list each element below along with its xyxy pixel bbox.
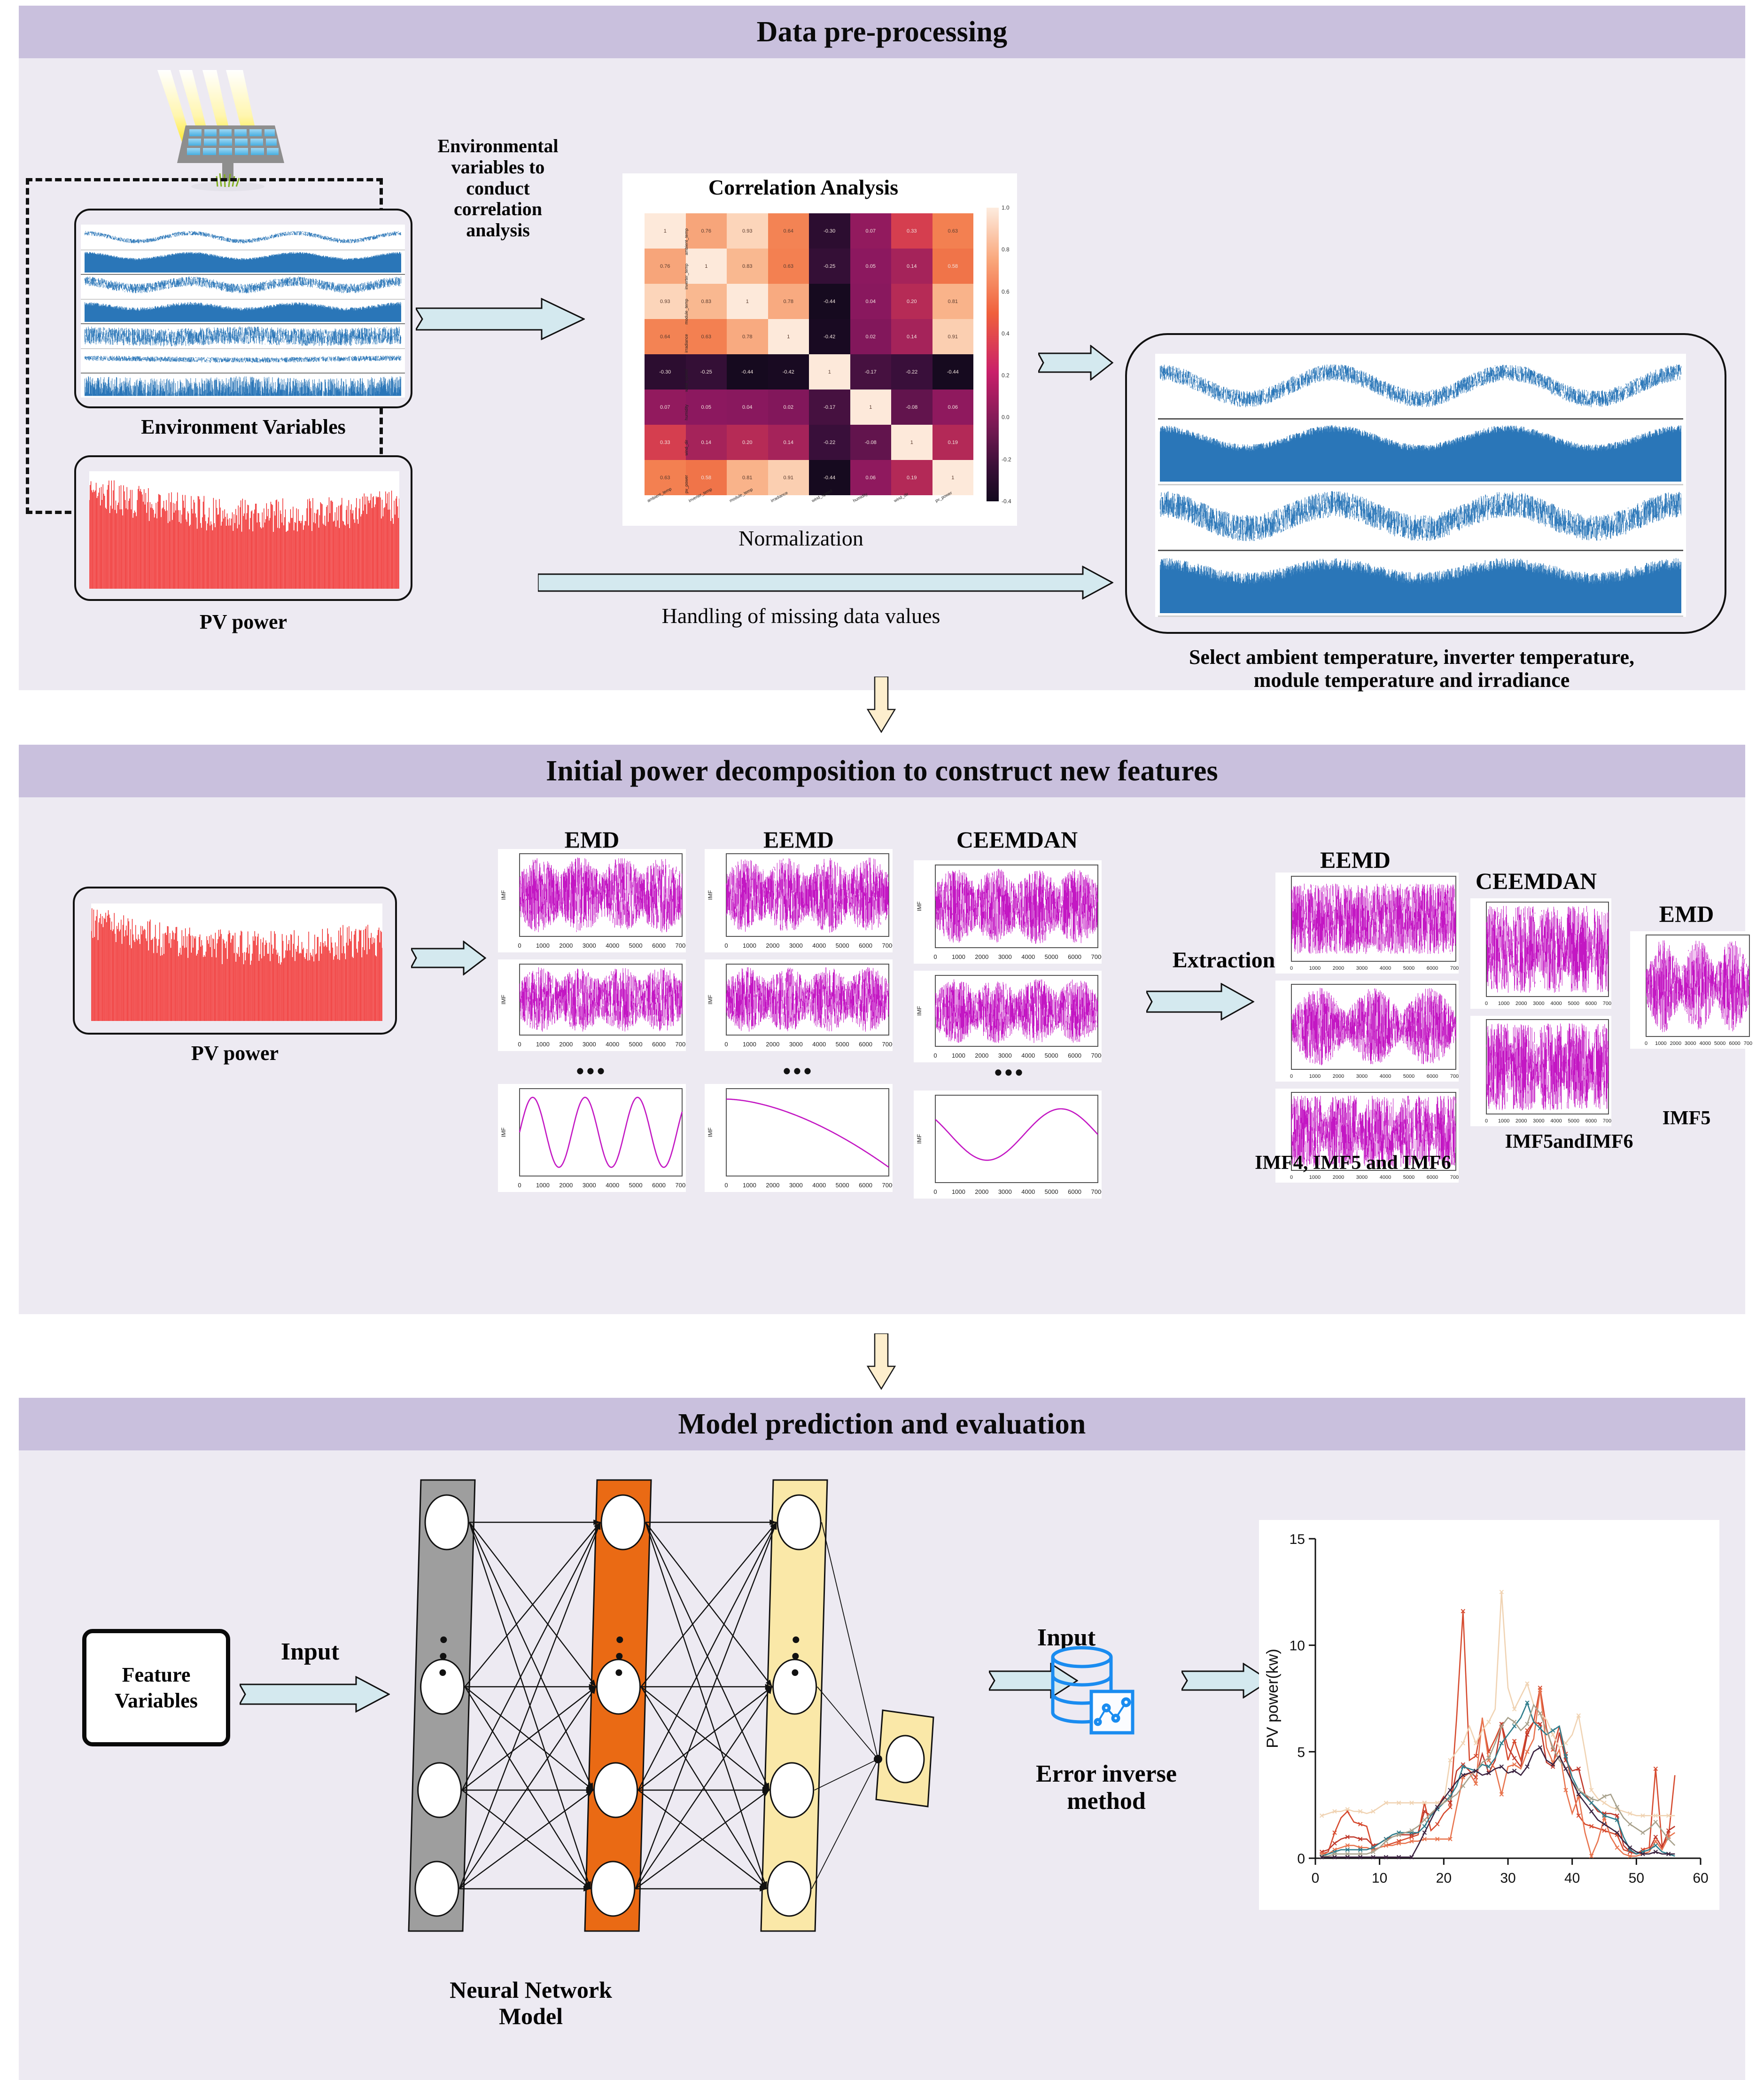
heatmap-cell: 1: [933, 460, 974, 495]
heatmap-cell: -0.30: [645, 354, 686, 390]
heatmap-cell-value: 0.63: [933, 213, 974, 249]
feature-box-line-2: Variables: [115, 1688, 198, 1714]
nn-caption-line-2: Model: [376, 2003, 686, 2029]
nn-node: [418, 1763, 461, 1817]
heatmap-cell: 0.93: [727, 213, 768, 249]
svg-text:2000: 2000: [1515, 1001, 1527, 1006]
svg-text:3000: 3000: [1533, 1001, 1544, 1006]
nn-node: [768, 1862, 811, 1916]
heatmap-cell: 0.78: [727, 319, 768, 354]
heatmap-cell-value: -0.08: [850, 425, 892, 460]
heatmap-cell: 0.19: [891, 460, 933, 495]
svg-text:6000: 6000: [1729, 1041, 1740, 1046]
env-trace-3: [85, 275, 401, 297]
error-inverse-method-caption: Error inverse method: [961, 1761, 1252, 1815]
pv-power-bars: [89, 471, 399, 589]
extracted-imf-plot: 01000200030004000500060007000: [1275, 981, 1459, 1082]
svg-text:4000: 4000: [1380, 966, 1391, 971]
nn-caption-line-1: Neural Network: [376, 1977, 686, 2003]
heatmap-cell-value: 0.14: [891, 249, 933, 284]
heatmap-cell-value: -0.08: [891, 390, 933, 425]
heatmap-cell-value: 1: [686, 249, 727, 284]
heatmap-cell: 0.20: [891, 284, 933, 319]
neural-network-caption: Neural Network Model: [376, 1977, 686, 2029]
heatmap-cell-value: -0.25: [686, 354, 727, 390]
heatmap-cell-value: 0.93: [645, 284, 686, 319]
svg-text:3000: 3000: [1533, 1118, 1544, 1124]
heatmap-cell: -0.44: [809, 284, 850, 319]
heatmap-cell: 1: [686, 249, 727, 284]
heatmap-cell: 1: [891, 425, 933, 460]
svg-text:10: 10: [1290, 1638, 1305, 1654]
heatmap-cell-value: 0.78: [768, 284, 809, 319]
flow-arrow-2: [867, 1333, 896, 1390]
heatmap-cell: -0.30: [809, 213, 850, 249]
heatmap-cell: 0.04: [850, 284, 892, 319]
heatmap-cell-value: 0.07: [645, 390, 686, 425]
heatmap-cell-value: 0.33: [645, 425, 686, 460]
arrow1-line-4: correlation: [416, 199, 580, 220]
correlation-arrow-label: Environmental variables to conduct corre…: [416, 136, 580, 241]
heatmap-cell: 1: [768, 319, 809, 354]
svg-text:2000: 2000: [1333, 1074, 1344, 1079]
database-icon: [1041, 1642, 1142, 1743]
svg-text:15: 15: [1290, 1532, 1305, 1547]
svg-text:7000: 7000: [1450, 966, 1459, 971]
heatmap-cell-value: 0.83: [686, 284, 727, 319]
heatmap-cell: 1: [727, 284, 768, 319]
svg-text:7000: 7000: [1603, 1118, 1611, 1124]
svg-text:1000: 1000: [1498, 1118, 1509, 1124]
heatmap-cell: 0.14: [768, 425, 809, 460]
heatmap-cell-value: 0.20: [891, 284, 933, 319]
environment-variables-traces: [81, 225, 405, 397]
svg-text:5000: 5000: [1568, 1001, 1579, 1006]
svg-text:5000: 5000: [1568, 1118, 1579, 1124]
heatmap-cell: 0.81: [727, 460, 768, 495]
section-1-title: Data pre-processing: [19, 6, 1745, 58]
svg-text:3000: 3000: [1685, 1041, 1696, 1046]
heatmap-cell-value: -0.42: [768, 354, 809, 390]
svg-text:2000: 2000: [1515, 1118, 1527, 1124]
heatmap-cell: 0.91: [768, 460, 809, 495]
heatmap-cell: 0.05: [686, 390, 727, 425]
svg-text:6000: 6000: [1427, 966, 1438, 971]
heatmap-cell: 0.19: [933, 425, 974, 460]
heatmap-cell-value: 0.93: [727, 213, 768, 249]
svg-text:6000: 6000: [1585, 1001, 1597, 1006]
heatmap-cell: 1: [645, 213, 686, 249]
heatmap-cell-value: 0.19: [933, 425, 974, 460]
nn-output-layer: [876, 1710, 933, 1807]
input-label-1: Input: [240, 1638, 381, 1666]
heatmap-cell: 0.14: [891, 319, 933, 354]
selected-variable-trace-4: [1160, 553, 1681, 613]
svg-text:3000: 3000: [1356, 966, 1368, 971]
heatmap-cell-value: -0.44: [727, 354, 768, 390]
heatmap-cell-value: -0.30: [809, 213, 850, 249]
svg-text:0: 0: [1297, 1851, 1305, 1867]
heatmap-cell-value: 0.64: [645, 319, 686, 354]
svg-text:0: 0: [1312, 1870, 1320, 1886]
nn-layer-ellipsis-dot: [616, 1653, 622, 1659]
result-caption-emd: IMF5: [1625, 1107, 1748, 1130]
heatmap-cell-value: 1: [727, 284, 768, 319]
selected-variable-trace-2: [1160, 421, 1681, 482]
heatmap-cell-value: 0.06: [850, 460, 892, 495]
heatmap-cell: 0.76: [686, 213, 727, 249]
svg-text:1000: 1000: [1498, 1001, 1509, 1006]
svg-text:4000: 4000: [1550, 1118, 1562, 1124]
heatmap-cell: 0.93: [645, 284, 686, 319]
heatmap-cell: 0.33: [645, 425, 686, 460]
svg-text:5: 5: [1297, 1745, 1305, 1760]
arrow-input-to-network: [240, 1676, 390, 1713]
svg-text:7000: 7000: [1450, 1074, 1459, 1079]
result-caption-eemd: IMF4, IMF5 and IMF6: [1207, 1152, 1499, 1174]
heatmap-cell-value: 0.20: [727, 425, 768, 460]
heatmap-cell-value: -0.17: [850, 354, 892, 390]
heatmap-cell: 0.58: [933, 249, 974, 284]
neural-network-diagram: [390, 1461, 944, 1957]
arrow-normalization: [538, 566, 1113, 600]
svg-text:4000: 4000: [1380, 1175, 1391, 1180]
nn-layer-ellipsis-dot: [615, 1669, 622, 1676]
chart-y-axis-label: PV power(kw): [1264, 1649, 1282, 1748]
pv-power-box-s1: [74, 455, 412, 601]
svg-text:1000: 1000: [1655, 1041, 1666, 1046]
heatmap-cell-value: 0.06: [933, 390, 974, 425]
nn-layer-ellipsis-dot: [440, 1636, 447, 1643]
error-method-line-2: method: [961, 1788, 1252, 1815]
heatmap-cell-value: -0.30: [645, 354, 686, 390]
heatmap-cell-value: 0.04: [727, 390, 768, 425]
selected-variables-caption: Select ambient temperature, inverter tem…: [1095, 646, 1729, 692]
error-method-line-1: Error inverse: [961, 1761, 1252, 1788]
selected-trace-divider: [1158, 550, 1683, 551]
heatmap-cell: 0.63: [645, 460, 686, 495]
env-trace-5: [85, 324, 401, 347]
heatmap-cell-value: 0.05: [686, 390, 727, 425]
heatmap-cell-value: 0.14: [686, 425, 727, 460]
heatmap-cell-value: 0.83: [727, 249, 768, 284]
nn-node: [421, 1659, 464, 1714]
heatmap-cell: 0.33: [891, 213, 933, 249]
svg-text:0: 0: [1645, 1041, 1647, 1046]
nn-node: [777, 1495, 821, 1550]
arrow1-line-2: variables to: [416, 157, 580, 178]
pv-power-prediction-chart: 0510150102030405060PV power(kw): [1259, 1520, 1719, 1910]
svg-text:4000: 4000: [1550, 1001, 1562, 1006]
heatmap-cell-value: 1: [768, 319, 809, 354]
heatmap-cell: 0.07: [645, 390, 686, 425]
svg-text:0: 0: [1290, 1074, 1293, 1079]
extracted-imf-plot: 01000200030004000500060007000: [1470, 898, 1611, 1009]
nn-node: [773, 1659, 816, 1714]
svg-text:0: 0: [1290, 966, 1293, 971]
pv-power-label-s1: PV power: [74, 610, 412, 633]
heatmap-cell-value: 1: [645, 213, 686, 249]
svg-text:7000: 7000: [1603, 1001, 1611, 1006]
nn-node: [770, 1763, 814, 1817]
svg-text:0: 0: [1485, 1001, 1488, 1006]
selected-trace-divider: [1158, 615, 1683, 617]
arrow1-line-5: analysis: [416, 220, 580, 241]
environment-variables-label: Environment Variables: [74, 415, 412, 438]
svg-text:1000: 1000: [1309, 1175, 1321, 1180]
extracted-imf-plot: 01000200030004000500060007000: [1275, 873, 1459, 974]
svg-text:3000: 3000: [1356, 1175, 1368, 1180]
heatmap-cell: -0.08: [850, 425, 892, 460]
heatmap-cell-value: 0.58: [686, 460, 727, 495]
heatmap-cell-value: -0.44: [933, 354, 974, 390]
heatmap-cell-value: 0.58: [933, 249, 974, 284]
nn-node: [601, 1495, 645, 1550]
heatmap-colorbar: [987, 208, 999, 501]
heatmap-cell: 0.83: [727, 249, 768, 284]
heatmap-cell: 0.78: [768, 284, 809, 319]
heatmap-cell-value: 0.78: [727, 319, 768, 354]
heatmap-cell: 0.64: [645, 319, 686, 354]
nn-layer-ellipsis-dot: [793, 1636, 799, 1643]
heatmap-cell-value: -0.17: [809, 390, 850, 425]
svg-text:3000: 3000: [1356, 1074, 1368, 1079]
svg-text:4000: 4000: [1380, 1074, 1391, 1079]
heatmap-cell-value: 1: [809, 354, 850, 390]
env-trace-2: [85, 250, 401, 273]
heatmap-cell: 1: [809, 354, 850, 390]
extracted-imf-plot: 01000200030004000500060007000: [1630, 931, 1752, 1049]
heatmap-cell: 0.64: [768, 213, 809, 249]
svg-text:2000: 2000: [1333, 1175, 1344, 1180]
section-power-decomposition: Initial power decomposition to construct…: [19, 745, 1745, 1314]
svg-text:1000: 1000: [1309, 966, 1321, 971]
correlation-heatmap-title: Correlation Analysis: [622, 175, 984, 200]
selected-trace-divider: [1158, 484, 1683, 485]
arrow1-line-1: Environmental: [416, 136, 580, 157]
result-caption-ceemdan: IMF5andIMF6: [1468, 1131, 1670, 1153]
section-data-preprocessing: Data pre-processing: [19, 6, 1745, 690]
heatmap-cell: -0.42: [809, 319, 850, 354]
output-caption-line-2: module temperature and irradiance: [1095, 669, 1729, 692]
selected-variables-box: [1125, 333, 1726, 634]
heatmap-cell: 1: [850, 390, 892, 425]
heatmap-cell-value: 0.64: [768, 213, 809, 249]
heatmap-cell: 0.20: [727, 425, 768, 460]
nn-layer-ellipsis-dot: [792, 1653, 799, 1659]
heatmap-cell: 0.14: [891, 249, 933, 284]
selected-variables-traces: [1155, 354, 1686, 617]
nn-node: [591, 1862, 635, 1916]
nn-layer-ellipsis-dot: [439, 1669, 446, 1676]
missing-data-label: Handling of missing data values: [538, 603, 1064, 629]
output-caption-line-1: Select ambient temperature, inverter tem…: [1095, 646, 1729, 669]
heatmap-cell-value: 0.63: [686, 319, 727, 354]
nn-layer-ellipsis-dot: [792, 1669, 798, 1676]
heatmap-cell-value: 0.91: [933, 319, 974, 354]
heatmap-cell: 0.58: [686, 460, 727, 495]
flow-arrow-1: [867, 677, 896, 733]
heatmap-cell-value: -0.22: [891, 354, 933, 390]
environment-variables-box: [74, 209, 412, 408]
heatmap-cell: -0.25: [809, 249, 850, 284]
heatmap-cell-value: 0.81: [933, 284, 974, 319]
svg-text:0: 0: [1290, 1175, 1293, 1180]
env-trace-4: [85, 300, 401, 322]
selected-trace-divider: [1158, 418, 1683, 420]
heatmap-cell: 0.05: [850, 249, 892, 284]
heatmap-cell: -0.42: [768, 354, 809, 390]
heatmap-cell-value: 0.33: [891, 213, 933, 249]
heatmap-cell: 0.02: [850, 319, 892, 354]
heatmap-cell-value: 0.63: [645, 460, 686, 495]
heatmap-cell-value: 0.19: [891, 460, 933, 495]
heatmap-cell-value: -0.42: [809, 319, 850, 354]
heatmap-cell-value: 0.02: [768, 390, 809, 425]
env-trace-6: [85, 349, 401, 372]
feature-variables-box: Feature Variables: [82, 1629, 230, 1746]
heatmap-cell: 0.63: [686, 319, 727, 354]
correlation-heatmap-grid: 10.760.930.64-0.300.070.330.630.7610.830…: [645, 213, 973, 495]
heatmap-cell: 0.06: [850, 460, 892, 495]
arrow-database-to-chart: [1181, 1663, 1271, 1698]
nn-layer-ellipsis-dot: [440, 1653, 446, 1659]
heatmap-cell-value: 0.14: [768, 425, 809, 460]
selected-variable-trace-3: [1160, 487, 1681, 547]
extracted-imf-plot: 01000200030004000500060007000: [1470, 1016, 1611, 1126]
svg-text:5000: 5000: [1403, 966, 1414, 971]
heatmap-cell: 0.63: [933, 213, 974, 249]
svg-text:7000: 7000: [1450, 1175, 1459, 1180]
heatmap-cell: 0.63: [768, 249, 809, 284]
feature-box-line-1: Feature: [122, 1662, 191, 1688]
heatmap-cell-value: 1: [933, 460, 974, 495]
svg-text:5000: 5000: [1403, 1175, 1414, 1180]
heatmap-cell-value: -0.25: [809, 249, 850, 284]
section-1-body: Environment Variables PV power Environme…: [19, 58, 1745, 690]
heatmap-cell: 0.91: [933, 319, 974, 354]
nn-node: [415, 1862, 458, 1916]
nn-layer-ellipsis-dot: [616, 1636, 623, 1643]
svg-text:50: 50: [1629, 1870, 1644, 1886]
heatmap-cell: 0.81: [933, 284, 974, 319]
heatmap-cell: -0.08: [891, 390, 933, 425]
pv-power-trace-s1: [89, 471, 399, 589]
heatmap-cell: 0.76: [645, 249, 686, 284]
env-trace-1: [85, 226, 401, 248]
selected-variable-trace-1: [1160, 356, 1681, 416]
svg-text:10: 10: [1372, 1870, 1387, 1886]
arrow-heatmap-to-output: [1038, 345, 1113, 381]
heatmap-cell-value: 0.05: [850, 249, 892, 284]
section-3-title: Model prediction and evaluation: [19, 1398, 1745, 1450]
svg-text:6000: 6000: [1427, 1074, 1438, 1079]
heatmap-cell-value: -0.22: [809, 425, 850, 460]
section-2-title: Initial power decomposition to construct…: [19, 745, 1745, 797]
heatmap-cell-value: 0.76: [645, 249, 686, 284]
svg-text:60: 60: [1693, 1870, 1708, 1886]
svg-text:30: 30: [1500, 1870, 1515, 1886]
heatmap-cell: 0.02: [768, 390, 809, 425]
heatmap-cell-value: 0.91: [768, 460, 809, 495]
heatmap-cell: 0.14: [686, 425, 727, 460]
heatmap-cell-value: 0.07: [850, 213, 892, 249]
heatmap-cell: 0.83: [686, 284, 727, 319]
svg-text:2000: 2000: [1670, 1041, 1681, 1046]
heatmap-cell-value: 0.04: [850, 284, 892, 319]
heatmap-cell: -0.17: [809, 390, 850, 425]
svg-text:5000: 5000: [1403, 1074, 1414, 1079]
nn-node: [597, 1659, 640, 1714]
heatmap-cell-value: 1: [850, 390, 892, 425]
heatmap-cell-value: 0.81: [727, 460, 768, 495]
heatmap-cell: -0.44: [933, 354, 974, 390]
heatmap-cell-value: 1: [891, 425, 933, 460]
normalization-label: Normalization: [538, 526, 1064, 551]
heatmap-cell: 0.07: [850, 213, 892, 249]
heatmap-cell: 0.06: [933, 390, 974, 425]
heatmap-cell-value: 0.76: [686, 213, 727, 249]
svg-text:0: 0: [1485, 1118, 1488, 1124]
heatmap-cell: 0.04: [727, 390, 768, 425]
nn-node: [594, 1763, 637, 1817]
section-2-body: PV power EMD EEMD CEEMDAN 01000200030004…: [19, 797, 1745, 1314]
heatmap-cell-value: 0.02: [850, 319, 892, 354]
heatmap-cell: -0.44: [809, 460, 850, 495]
arrow1-line-3: conduct: [416, 178, 580, 199]
nn-node: [425, 1495, 468, 1550]
env-trace-7: [85, 374, 401, 396]
heatmap-cell-value: -0.44: [809, 284, 850, 319]
arrow-to-correlation: [416, 298, 585, 340]
svg-text:7000: 7000: [1744, 1041, 1752, 1046]
heatmap-cell: -0.22: [809, 425, 850, 460]
svg-text:1000: 1000: [1309, 1074, 1321, 1079]
heatmap-cell-value: 0.14: [891, 319, 933, 354]
heatmap-cell: -0.44: [727, 354, 768, 390]
svg-text:2000: 2000: [1333, 966, 1344, 971]
heatmap-cell-value: -0.44: [809, 460, 850, 495]
svg-text:6000: 6000: [1585, 1118, 1597, 1124]
svg-text:6000: 6000: [1427, 1175, 1438, 1180]
svg-text:4000: 4000: [1699, 1041, 1710, 1046]
heatmap-cell: -0.25: [686, 354, 727, 390]
heatmap-cell: -0.22: [891, 354, 933, 390]
svg-text:20: 20: [1436, 1870, 1452, 1886]
heatmap-cell-value: 0.63: [768, 249, 809, 284]
heatmap-cell: -0.17: [850, 354, 892, 390]
svg-text:40: 40: [1564, 1870, 1580, 1886]
svg-text:5000: 5000: [1714, 1041, 1725, 1046]
